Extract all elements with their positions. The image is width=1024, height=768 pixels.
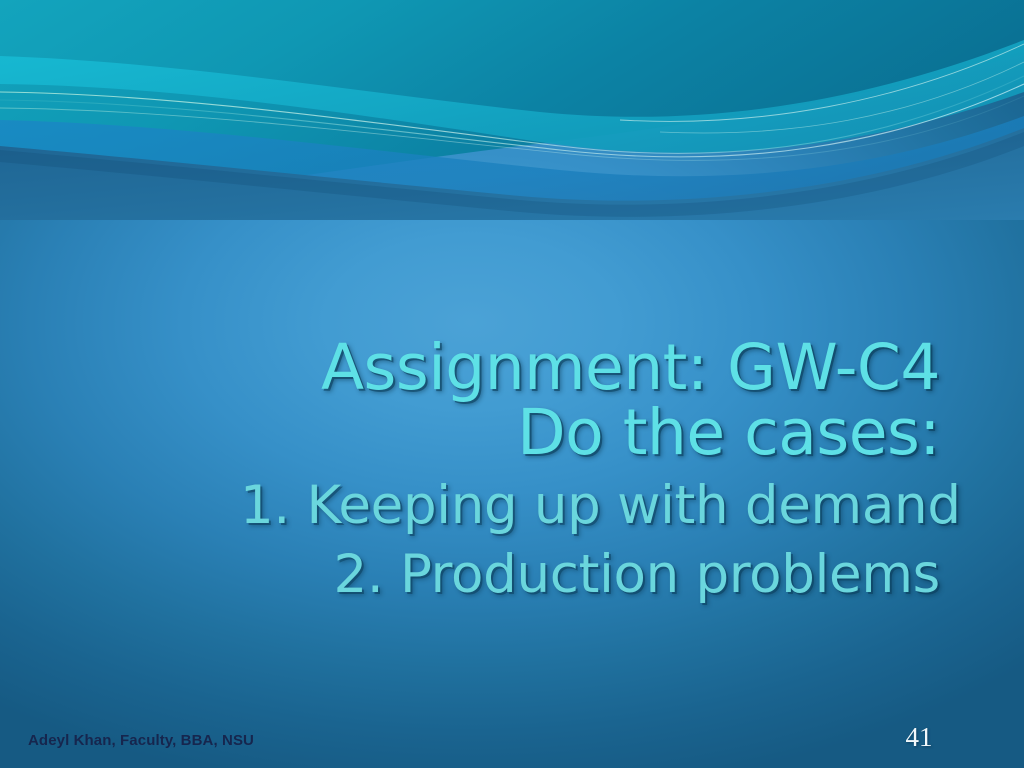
- wave-shape-teal-field: [0, 0, 1024, 218]
- wave-hairline-2: [0, 84, 1024, 157]
- slide-number: 41: [896, 722, 942, 753]
- wave-hairline-3: [0, 96, 1024, 160]
- wave-hairline-5: [660, 62, 1024, 133]
- wave-hairline-4: [620, 44, 1024, 121]
- wave-banner-svg: [0, 0, 1024, 220]
- slide-text-block: Assignment: GW-C4 Do the cases: 1. Keepi…: [240, 336, 940, 610]
- wave-hairline-1: [0, 76, 1024, 153]
- wave-shape-deep-body: [0, 128, 1024, 220]
- slide-body-line-2: 2. Production problems: [240, 541, 940, 610]
- wave-shape-crest-shadow: [0, 132, 1024, 217]
- wave-shape-cyan-ribbon: [0, 40, 1024, 153]
- slide-title-line-1: Assignment: GW-C4: [240, 336, 940, 401]
- presentation-slide: Assignment: GW-C4 Do the cases: 1. Keepi…: [0, 0, 1024, 768]
- slide-body-line-1: 1. Keeping up with demand: [240, 472, 940, 541]
- slide-title-line-2: Do the cases:: [240, 401, 940, 466]
- wave-banner-decoration: [0, 0, 1024, 220]
- wave-shape-blue-ribbon: [0, 116, 1024, 215]
- footer-credit: Adeyl Khan, Faculty, BBA, NSU: [28, 732, 254, 749]
